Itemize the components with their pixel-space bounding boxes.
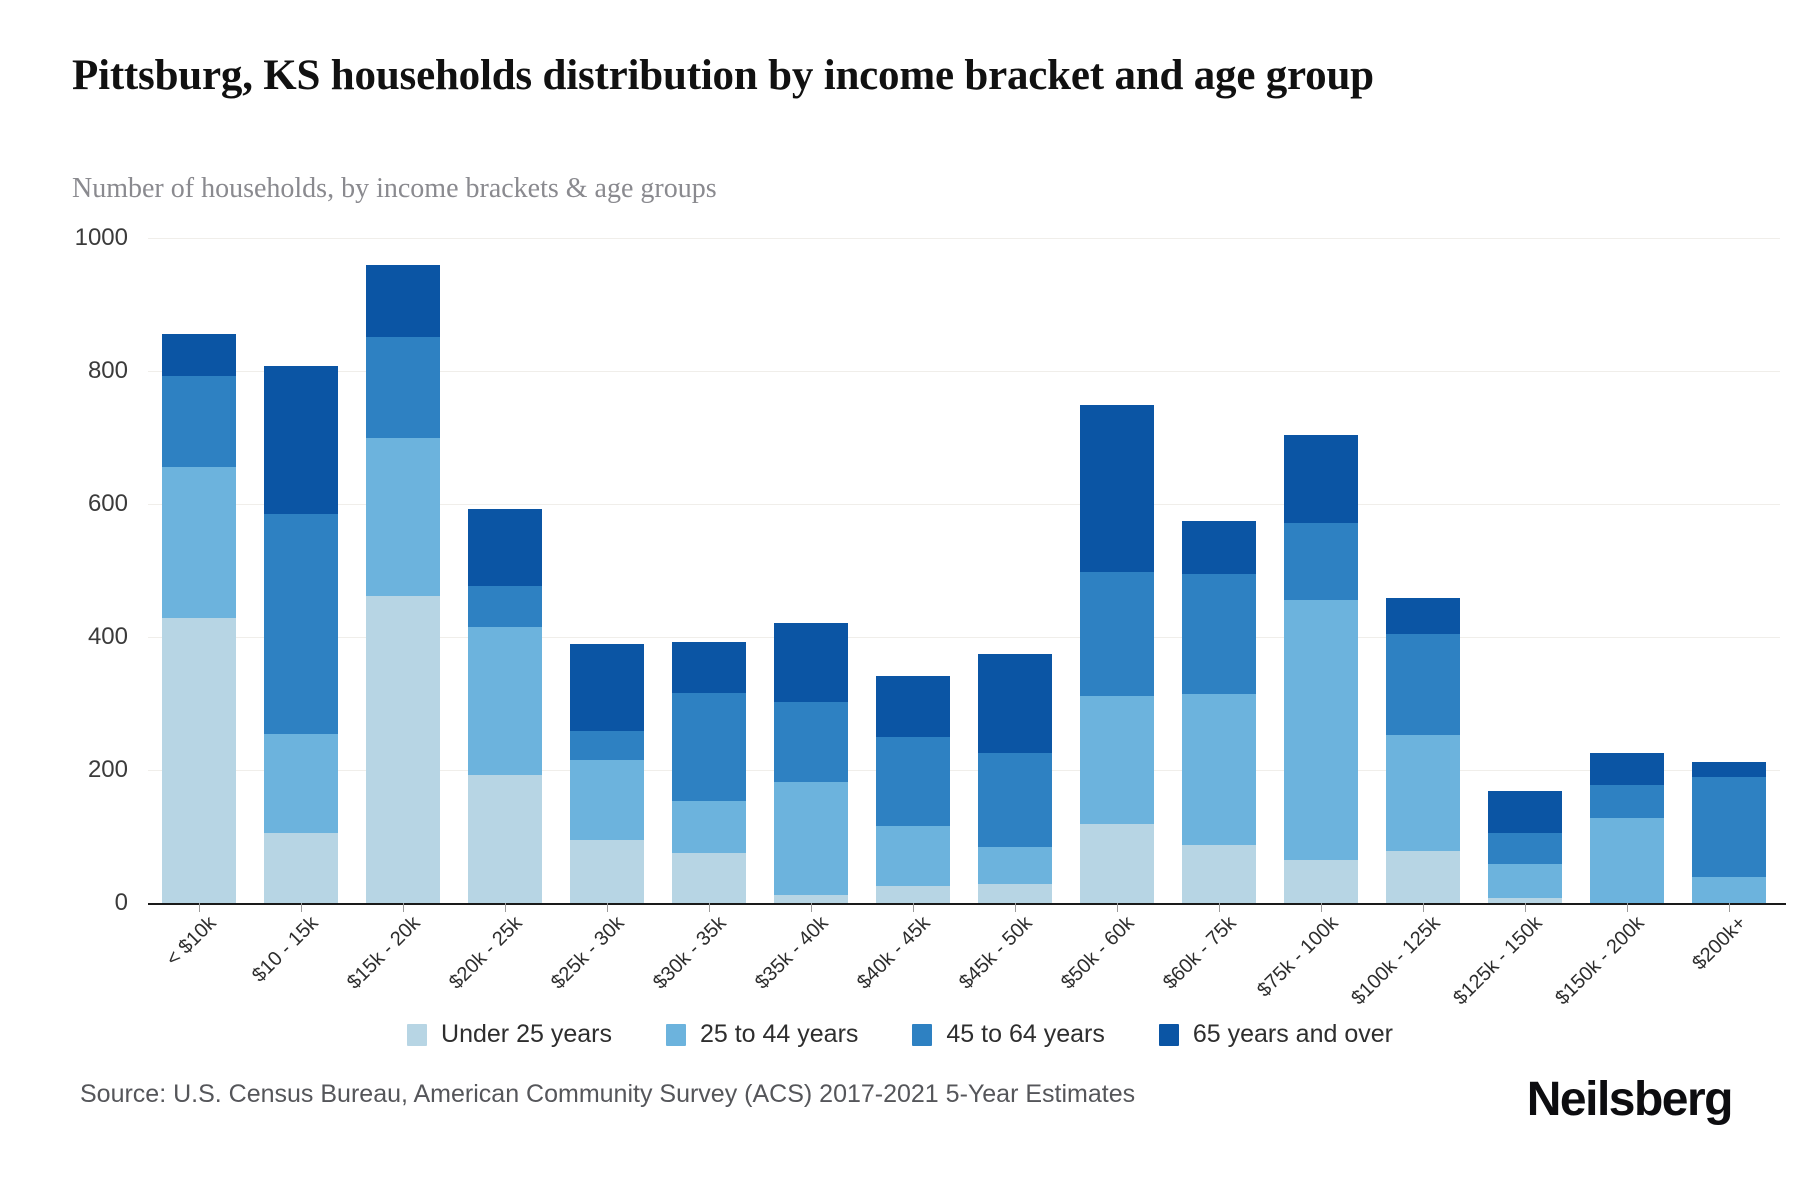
x-axis-tick [1117,903,1118,912]
bar-segment[interactable] [570,760,643,840]
source-note: Source: U.S. Census Bureau, American Com… [80,1080,1135,1109]
bar-segment[interactable] [1284,435,1357,523]
x-axis-tick [1015,903,1016,912]
legend-item-label: 25 to 44 years [700,1020,858,1049]
y-axis-tick-label: 1000 [8,224,128,252]
stacked-bar[interactable] [1080,405,1153,903]
bar-group[interactable] [1168,238,1270,903]
bar-group[interactable] [862,238,964,903]
stacked-bar[interactable] [1386,598,1459,903]
x-axis-tick-label: < $10k [162,912,221,971]
bar-segment[interactable] [1590,785,1663,818]
bar-segment[interactable] [978,654,1051,752]
bar-segment[interactable] [1386,851,1459,903]
stacked-bar[interactable] [1488,791,1561,903]
x-axis-tick-label: $200k+ [1688,912,1751,975]
bar-group[interactable] [1576,238,1678,903]
brand-logo: Neilsberg [1527,1072,1732,1127]
bar-segment[interactable] [1080,824,1153,903]
bar-group[interactable] [1678,238,1780,903]
bar-segment[interactable] [1284,523,1357,600]
bar-segment[interactable] [366,265,439,337]
x-axis-tick [1321,903,1322,912]
bar-group[interactable] [1270,238,1372,903]
x-axis-tick-label: $40k - 45k [853,912,935,994]
bar-segment[interactable] [162,334,235,376]
legend-swatch-icon [666,1024,686,1046]
bar-segment[interactable] [1386,598,1459,634]
x-axis-tick [1627,903,1628,912]
bar-group[interactable] [148,238,250,903]
stacked-bar[interactable] [264,366,337,903]
x-axis-tick [1525,903,1526,912]
x-axis-tick-label: $15k - 20k [343,912,425,994]
bar-group[interactable] [964,238,1066,903]
page-title: Pittsburg, KS households distribution by… [72,48,1492,103]
legend-swatch-icon [1159,1024,1179,1046]
bar-segment[interactable] [570,731,643,760]
x-axis-tick [403,903,404,912]
bar-segment[interactable] [876,826,949,886]
bar-segment[interactable] [1692,777,1765,877]
page-subtitle: Number of households, by income brackets… [72,172,1372,206]
legend-item-label: 65 years and over [1193,1020,1393,1049]
bar-segment[interactable] [468,586,541,627]
bar-segment[interactable] [468,627,541,775]
legend-swatch-icon [912,1024,932,1046]
x-axis-tick-label: $75k - 100k [1253,912,1343,1002]
x-axis-tick [1219,903,1220,912]
x-axis-tick [811,903,812,912]
stacked-bar[interactable] [570,644,643,903]
stacked-bar[interactable] [774,623,847,903]
bar-segment[interactable] [1284,860,1357,903]
bar-segment[interactable] [264,366,337,514]
bar-group[interactable] [1372,238,1474,903]
x-axis-tick-label: $60k - 75k [1159,912,1241,994]
legend-item-label: Under 25 years [441,1020,612,1049]
bar-group[interactable] [658,238,760,903]
x-axis-tick [1423,903,1424,912]
x-axis-tick [913,903,914,912]
bar-segment[interactable] [1080,572,1153,696]
x-axis-tick-label: $10 - 15k [248,912,323,987]
bar-segment[interactable] [162,376,235,467]
bar-segment[interactable] [774,702,847,782]
stacked-bar[interactable] [1590,753,1663,903]
x-axis-tick-label: $25k - 30k [547,912,629,994]
bar-segment[interactable] [1284,600,1357,860]
bar-segment[interactable] [978,847,1051,884]
bar-segment[interactable] [1692,877,1765,903]
stacked-bar[interactable] [1692,762,1765,903]
y-axis-tick-label: 600 [8,490,128,518]
bar-group[interactable] [556,238,658,903]
stacked-bar[interactable] [1284,435,1357,903]
bar-segment[interactable] [1488,864,1561,897]
bar-segment[interactable] [1182,694,1255,845]
bar-segment[interactable] [774,895,847,903]
chart-legend: Under 25 years25 to 44 years45 to 64 yea… [0,1020,1800,1049]
bar-segment[interactable] [468,775,541,903]
legend-item[interactable]: 45 to 64 years [912,1020,1104,1049]
bar-segment[interactable] [978,753,1051,847]
x-axis-tick [301,903,302,912]
x-axis-tick-label: $20k - 25k [445,912,527,994]
bar-series-container [148,238,1780,903]
bar-segment[interactable] [264,514,337,734]
x-axis-line [148,903,1786,905]
x-axis-tick-label: $35k - 40k [751,912,833,994]
x-axis-tick [199,903,200,912]
bar-segment[interactable] [1080,696,1153,824]
legend-item[interactable]: Under 25 years [407,1020,612,1049]
bar-segment[interactable] [774,782,847,895]
bar-segment[interactable] [672,801,745,853]
bar-group[interactable] [760,238,862,903]
bar-segment[interactable] [1080,405,1153,572]
bar-segment[interactable] [978,884,1051,903]
bar-segment[interactable] [672,642,745,693]
bar-segment[interactable] [672,693,745,801]
bar-segment[interactable] [1182,845,1255,903]
bar-segment[interactable] [876,886,949,903]
stacked-bar[interactable] [978,654,1051,903]
bar-group[interactable] [250,238,352,903]
bar-segment[interactable] [1590,753,1663,785]
bar-segment[interactable] [570,644,643,732]
x-axis-tick [1729,903,1730,912]
legend-swatch-icon [407,1024,427,1046]
bar-segment[interactable] [264,833,337,903]
x-axis-tick [505,903,506,912]
bar-segment[interactable] [162,618,235,903]
x-axis-tick-label: $150k - 200k [1551,912,1649,1010]
y-axis-tick-label: 0 [8,889,128,917]
bar-segment[interactable] [162,467,235,619]
bar-segment[interactable] [366,337,439,437]
bar-group[interactable] [1066,238,1168,903]
x-axis-tick-label: $30k - 35k [649,912,731,994]
chart-plot-area [148,238,1780,903]
stacked-bar[interactable] [468,509,541,903]
y-axis-tick-label: 400 [8,623,128,651]
bar-segment[interactable] [366,438,439,596]
stacked-bar[interactable] [1182,521,1255,903]
stacked-bar[interactable] [672,642,745,903]
bar-segment[interactable] [672,853,745,903]
bar-group[interactable] [1474,238,1576,903]
legend-item-label: 45 to 64 years [946,1020,1104,1049]
y-axis-tick-label: 200 [8,756,128,784]
bar-segment[interactable] [1386,735,1459,851]
legend-item[interactable]: 25 to 44 years [666,1020,858,1049]
bar-segment[interactable] [1488,791,1561,833]
x-axis-tick-label: $100k - 125k [1347,912,1445,1010]
bar-segment[interactable] [1386,634,1459,735]
legend-item[interactable]: 65 years and over [1159,1020,1393,1049]
bar-segment[interactable] [1692,762,1765,777]
bar-segment[interactable] [1590,818,1663,903]
x-axis-tick [709,903,710,912]
bar-segment[interactable] [366,596,439,903]
bar-segment[interactable] [570,840,643,903]
bar-segment[interactable] [264,734,337,832]
bar-segment[interactable] [876,737,949,826]
stacked-bar[interactable] [876,676,949,903]
bar-segment[interactable] [468,509,541,585]
stacked-bar[interactable] [162,334,235,903]
bar-segment[interactable] [1488,833,1561,865]
x-axis-tick-label: $125k - 150k [1449,912,1547,1010]
y-axis-tick-label: 800 [8,357,128,385]
x-axis-tick [607,903,608,912]
x-axis-tick-label: $45k - 50k [955,912,1037,994]
x-axis-tick-label: $50k - 60k [1057,912,1139,994]
bar-group[interactable] [454,238,556,903]
bar-segment[interactable] [876,676,949,737]
stacked-bar[interactable] [366,265,439,903]
bar-segment[interactable] [774,623,847,702]
bar-segment[interactable] [1182,521,1255,574]
bar-segment[interactable] [1182,574,1255,694]
bar-group[interactable] [352,238,454,903]
